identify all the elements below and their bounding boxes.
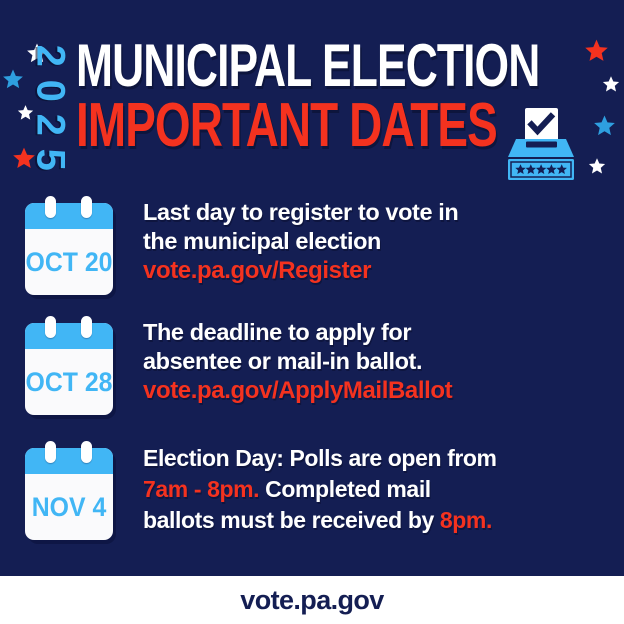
calendar-header-band [25,323,113,349]
date-row-nov-4: NOV 4 Election Day: Polls are open from … [0,443,624,549]
ballot-deadline-highlight: 8pm. [440,507,492,533]
date-link-apply-mail-ballot[interactable]: vote.pa.gov/ApplyMailBallot [143,376,613,406]
calendar-body: NOV 4 [25,448,113,540]
date-text-line-1: The deadline to apply for [143,318,613,347]
year-digit-4: 5 [33,137,68,181]
calendar-ring-left [45,441,56,463]
election-day-line-1: Election Day: Polls are open from [143,443,613,474]
date-row-text: The deadline to apply for absentee or ma… [143,318,613,406]
calendar-date-label: OCT 28 [29,353,110,411]
calendar-ring-right [81,441,92,463]
calendar-date-label: OCT 20 [29,233,110,291]
date-text-line-2: absentee or mail-in ballot. [143,347,613,376]
date-row-text: Last day to register to vote in the muni… [143,198,613,286]
calendar-header-band [25,448,113,474]
poster-title: MUNICIPAL ELECTION IMPORTANT DATES [76,36,506,156]
calendar-ring-right [81,196,92,218]
date-link-register[interactable]: vote.pa.gov/Register [143,256,613,286]
calendar-header-band [25,203,113,229]
election-dates-poster: 2 0 2 5 MUNICIPAL ELECTION IMPORTANT DAT… [0,0,624,624]
date-row-oct-28: OCT 28 The deadline to apply for absente… [0,318,624,418]
date-text-line-1: Last day to register to vote in [143,198,613,227]
date-row-oct-20: OCT 20 Last day to register to vote in t… [0,198,624,298]
calendar-ring-left [45,196,56,218]
election-day-line-3-lead: ballots must be received by [143,507,440,533]
footer-bar: vote.pa.gov [0,576,624,624]
date-row-text: Election Day: Polls are open from 7am - … [143,443,613,536]
election-day-line-3: ballots must be received by 8pm. [143,505,613,536]
title-line-important-dates: IMPORTANT DATES [76,96,394,156]
ballot-box-icon [502,108,580,182]
calendar-date-label: NOV 4 [29,478,110,536]
calendar-body: OCT 28 [25,323,113,415]
calendar-icon-oct-28: OCT 28 [25,323,113,415]
title-line-municipal-election: MUNICIPAL ELECTION [76,36,394,96]
election-day-line-2: 7am - 8pm. Completed mail [143,474,613,505]
footer-website-url[interactable]: vote.pa.gov [240,585,383,616]
calendar-body: OCT 20 [25,203,113,295]
election-day-line-2-rest: Completed mail [259,476,431,502]
calendar-icon-nov-4: NOV 4 [25,448,113,540]
poster-header: 2 0 2 5 MUNICIPAL ELECTION IMPORTANT DAT… [0,0,624,196]
poll-hours-highlight: 7am - 8pm. [143,476,259,502]
date-text-line-2: the municipal election [143,227,613,256]
year-vertical-2025: 2 0 2 5 [28,38,72,176]
calendar-icon-oct-20: OCT 20 [25,203,113,295]
calendar-ring-right [81,316,92,338]
calendar-ring-left [45,316,56,338]
